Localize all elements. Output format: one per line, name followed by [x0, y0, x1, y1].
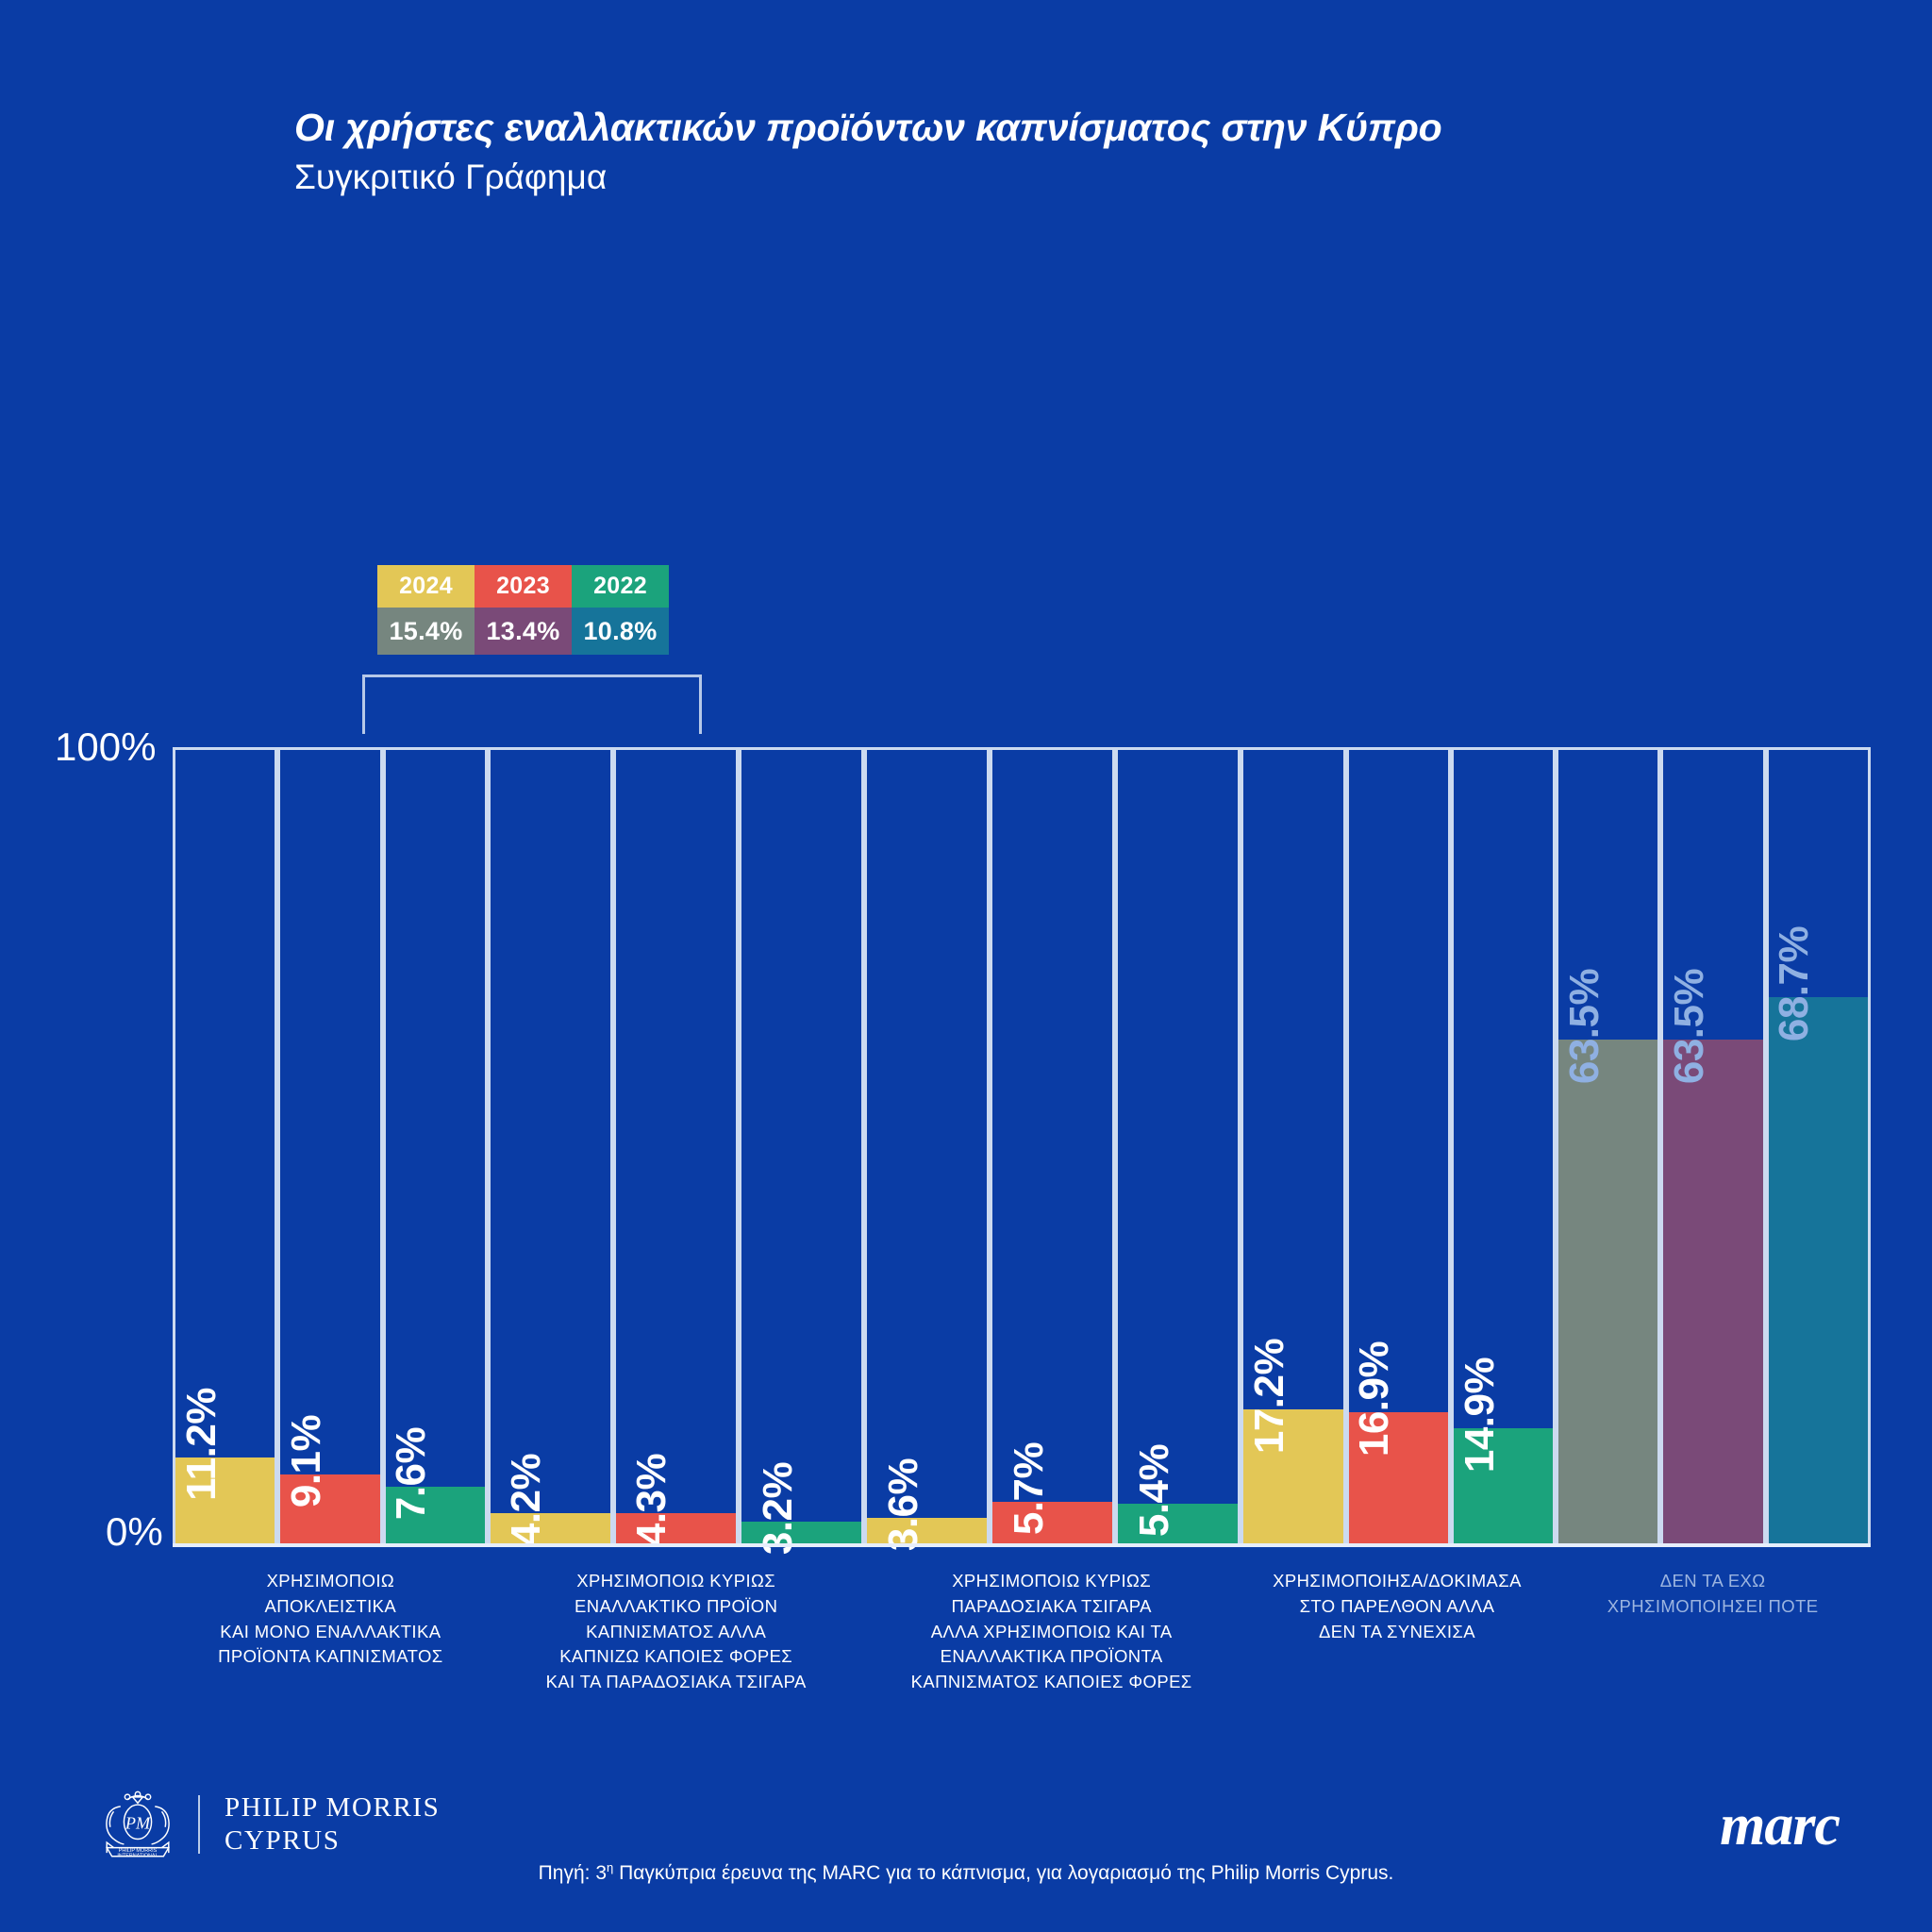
pm-line-1: PHILIP MORRIS: [225, 1791, 440, 1824]
legend: 202420232022 15.4%13.4%10.8%: [377, 565, 669, 655]
logo-divider: [198, 1795, 200, 1854]
bar-2022-g4[interactable]: 14.9%: [1454, 1428, 1553, 1547]
category-label-4: ΧΡΗΣΙΜΟΠΟΙΗΣΑ/ΔΟΚΙΜΑΣΑΣΤΟ ΠΑΡΕΛΘΟΝ ΑΛΛΑΔ…: [1240, 1569, 1556, 1695]
bar-2024-g2[interactable]: 4.2%: [491, 1513, 610, 1547]
legend-total-2023: 13.4%: [475, 608, 572, 655]
bar-2023-g5[interactable]: 63.5%: [1663, 1040, 1762, 1547]
bar-value-label: 17.2%: [1246, 1339, 1293, 1454]
source-prefix: Πηγή: 3: [539, 1862, 607, 1884]
bar-value-label: 4.3%: [628, 1453, 675, 1545]
bar-value-label: 3.2%: [755, 1462, 802, 1555]
bar-2022-g3[interactable]: 5.4%: [1118, 1504, 1238, 1547]
category-label-2: ΧΡΗΣΙΜΟΠΟΙΩ ΚΥΡΙΩΣΕΝΑΛΛΑΚΤΙΚΟ ΠΡΟΪΟΝΚΑΠΝ…: [489, 1569, 864, 1695]
bar-slot-2024-g5[interactable]: 63.5%: [1556, 747, 1660, 1547]
philip-morris-crest-icon: PM PHILIP MORRIS INTERNATIONAL: [94, 1786, 181, 1863]
category-label-line: ΠΑΡΑΔΟΣΙΑΚΑ ΤΣΙΓΑΡΑ: [870, 1594, 1234, 1620]
bar-slot-2024-g3[interactable]: 3.6%: [864, 747, 990, 1547]
bar-slot-2023-g2[interactable]: 4.3%: [613, 747, 739, 1547]
marc-logo: marc: [1720, 1792, 1840, 1859]
header: Οι χρήστες εναλλακτικών προϊόντων καπνίσ…: [294, 106, 1441, 198]
bar-2024-g1[interactable]: 11.2%: [175, 1457, 275, 1547]
bar-value-label: 14.9%: [1457, 1357, 1504, 1473]
category-label-line: ΚΑΠΝΙΣΜΑΤΟΣ ΑΛΛΑ: [494, 1620, 858, 1645]
bar-value-label: 63.5%: [1666, 968, 1713, 1083]
category-label-line: ΣΤΟ ΠΑΡΕΛΘΟΝ ΑΛΛΑ: [1245, 1594, 1550, 1620]
category-label-5: ΔΕΝ ΤΑ ΕΧΩΧΡΗΣΙΜΟΠΟΙΗΣΕΙ ΠΟΤΕ: [1555, 1569, 1871, 1695]
bar-groups: 11.2%9.1%7.6%4.2%4.3%3.2%3.6%5.7%5.4%17.…: [173, 747, 1871, 1547]
bar-2022-g1[interactable]: 7.6%: [386, 1487, 485, 1547]
bar-value-label: 5.7%: [1006, 1442, 1053, 1535]
category-label-line: ΕΝΑΛΛΑΚΤΙΚΑ ΠΡΟΪΟΝΤΑ: [870, 1644, 1234, 1670]
bar-slot-2024-g4[interactable]: 17.2%: [1241, 747, 1345, 1547]
bar-2023-g2[interactable]: 4.3%: [616, 1513, 736, 1547]
category-label-line: ΚΑΠΝΙΖΩ ΚΑΠΟΙΕΣ ΦΟΡΕΣ: [494, 1644, 858, 1670]
source-rest: Παγκύπρια έρευνα της MARC για το κάπνισμ…: [613, 1862, 1393, 1884]
bar-group-4: 17.2%16.9%14.9%: [1241, 747, 1556, 1547]
philip-morris-logo: PM PHILIP MORRIS INTERNATIONAL PHILIP MO…: [94, 1786, 440, 1863]
bar-2023-g4[interactable]: 16.9%: [1349, 1412, 1448, 1547]
category-labels: ΧΡΗΣΙΜΟΠΟΙΩΑΠΟΚΛΕΙΣΤΙΚΑΚΑΙ ΜΟΝΟ ΕΝΑΛΛΑΚΤ…: [173, 1569, 1871, 1695]
svg-text:INTERNATIONAL: INTERNATIONAL: [117, 1854, 158, 1859]
category-label-line: ΧΡΗΣΙΜΟΠΟΙΩ ΚΥΡΙΩΣ: [870, 1569, 1234, 1594]
bar-value-label: 9.1%: [283, 1415, 330, 1507]
bar-group-1: 11.2%9.1%7.6%: [173, 747, 488, 1547]
bar-slot-2024-g2[interactable]: 4.2%: [488, 747, 613, 1547]
category-label-line: ΧΡΗΣΙΜΟΠΟΙΩ: [178, 1569, 483, 1594]
legend-total-2024: 15.4%: [377, 608, 475, 655]
bar-value-label: 63.5%: [1561, 968, 1608, 1083]
bar-value-label: 4.2%: [503, 1454, 550, 1546]
axis-baseline: [173, 1543, 1871, 1547]
bar-2024-g5[interactable]: 63.5%: [1558, 1040, 1657, 1547]
category-label-line: ΠΡΟΪΟΝΤΑ ΚΑΠΝΙΣΜΑΤΟΣ: [178, 1644, 483, 1670]
svg-text:PM: PM: [125, 1814, 152, 1833]
philip-morris-wordmark: PHILIP MORRIS CYPRUS: [225, 1791, 440, 1858]
bar-slot-2022-g5[interactable]: 68.7%: [1766, 747, 1871, 1547]
category-label-line: ΧΡΗΣΙΜΟΠΟΙΗΣΑ/ΔΟΚΙΜΑΣΑ: [1245, 1569, 1550, 1594]
bar-group-2: 4.2%4.3%3.2%: [488, 747, 864, 1547]
category-label-line: ΕΝΑΛΛΑΚΤΙΚΟ ΠΡΟΪΟΝ: [494, 1594, 858, 1620]
category-label-line: ΚΑΙ ΤΑ ΠΑΡΑΔΟΣΙΑΚΑ ΤΣΙΓΑΡΑ: [494, 1670, 858, 1695]
bar-value-label: 3.6%: [880, 1458, 927, 1551]
bar-slot-2023-g4[interactable]: 16.9%: [1346, 747, 1451, 1547]
category-label-1: ΧΡΗΣΙΜΟΠΟΙΩΑΠΟΚΛΕΙΣΤΙΚΑΚΑΙ ΜΟΝΟ ΕΝΑΛΛΑΚΤ…: [173, 1569, 489, 1695]
legend-total-2022: 10.8%: [572, 608, 669, 655]
bar-value-label: 68.7%: [1771, 926, 1818, 1041]
bar-2023-g1[interactable]: 9.1%: [280, 1474, 379, 1547]
category-label-line: ΑΛΛΑ ΧΡΗΣΙΜΟΠΟΙΩ ΚΑΙ ΤΑ: [870, 1620, 1234, 1645]
bar-slot-2022-g3[interactable]: 5.4%: [1115, 747, 1241, 1547]
pm-line-2: CYPRUS: [225, 1824, 440, 1857]
bar-2022-g5[interactable]: 68.7%: [1769, 997, 1868, 1547]
bar-slot-2023-g5[interactable]: 63.5%: [1660, 747, 1765, 1547]
category-label-line: ΔΕΝ ΤΑ ΣΥΝΕΧΙΣΑ: [1245, 1620, 1550, 1645]
bar-value-label: 16.9%: [1351, 1341, 1398, 1457]
legend-year-2024: 2024: [377, 565, 475, 608]
y-axis-bottom-label: 0%: [106, 1509, 163, 1555]
category-label-line: ΔΕΝ ΤΑ ΕΧΩ: [1560, 1569, 1865, 1594]
bar-slot-2022-g2[interactable]: 3.2%: [739, 747, 864, 1547]
bar-2023-g3[interactable]: 5.7%: [992, 1502, 1112, 1547]
category-label-3: ΧΡΗΣΙΜΟΠΟΙΩ ΚΥΡΙΩΣΠΑΡΑΔΟΣΙΑΚΑ ΤΣΙΓΑΡΑΑΛΛ…: [864, 1569, 1240, 1695]
legend-total-row: 15.4%13.4%10.8%: [377, 608, 669, 655]
bar-slot-2023-g3[interactable]: 5.7%: [990, 747, 1115, 1547]
legend-year-2023: 2023: [475, 565, 572, 608]
plot-area: 11.2%9.1%7.6%4.2%4.3%3.2%3.6%5.7%5.4%17.…: [173, 747, 1871, 1547]
legend-year-row: 202420232022: [377, 565, 669, 608]
category-label-line: ΧΡΗΣΙΜΟΠΟΙΩ ΚΥΡΙΩΣ: [494, 1569, 858, 1594]
category-label-line: ΧΡΗΣΙΜΟΠΟΙΗΣΕΙ ΠΟΤΕ: [1560, 1594, 1865, 1620]
bar-slot-2022-g4[interactable]: 14.9%: [1451, 747, 1556, 1547]
legend-bracket: [362, 675, 702, 734]
bar-value-label: 5.4%: [1131, 1444, 1178, 1537]
category-label-line: ΚΑΙ ΜΟΝΟ ΕΝΑΛΛΑΚΤΙΚΑ: [178, 1620, 483, 1645]
bar-value-label: 11.2%: [178, 1388, 225, 1501]
page-title: Οι χρήστες εναλλακτικών προϊόντων καπνίσ…: [294, 106, 1441, 150]
category-label-line: ΚΑΠΝΙΣΜΑΤΟΣ ΚΑΠΟΙΕΣ ΦΟΡΕΣ: [870, 1670, 1234, 1695]
bar-slot-2022-g1[interactable]: 7.6%: [383, 747, 488, 1547]
bar-value-label: 7.6%: [388, 1426, 435, 1519]
y-axis-top-label: 100%: [55, 724, 156, 770]
category-label-line: ΑΠΟΚΛΕΙΣΤΙΚΑ: [178, 1594, 483, 1620]
bar-slot-2024-g1[interactable]: 11.2%: [173, 747, 277, 1547]
page-subtitle: Συγκριτικό Γράφημα: [294, 158, 1441, 198]
bar-group-5: 63.5%63.5%68.7%: [1556, 747, 1871, 1547]
legend-year-2022: 2022: [572, 565, 669, 608]
bar-slot-2023-g1[interactable]: 9.1%: [277, 747, 382, 1547]
bar-2024-g4[interactable]: 17.2%: [1243, 1409, 1342, 1547]
infographic-page: Οι χρήστες εναλλακτικών προϊόντων καπνίσ…: [0, 0, 1932, 1932]
bar-group-3: 3.6%5.7%5.4%: [864, 747, 1241, 1547]
source-note: Πηγή: 3η Παγκύπρια έρευνα της MARC για τ…: [0, 1860, 1932, 1885]
